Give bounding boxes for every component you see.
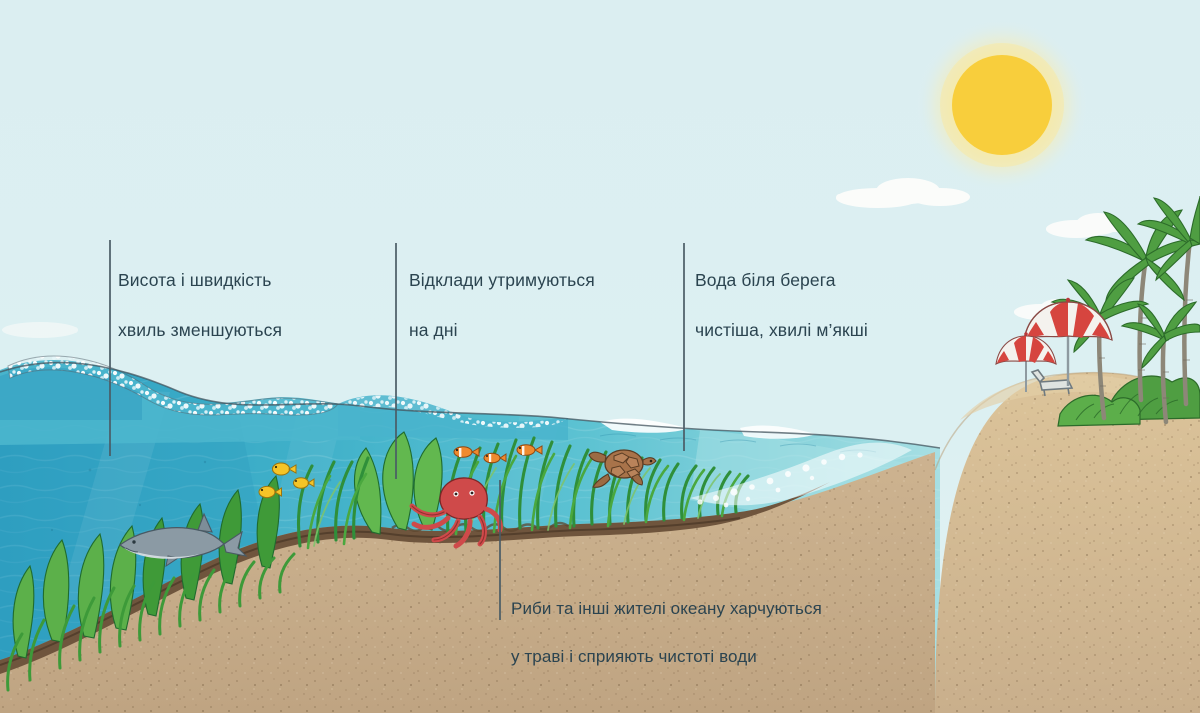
label-sediment: Відклади утримуються на дні xyxy=(409,243,595,367)
label-fish-feeding-line1: Риби та інші жителі океану харчуються xyxy=(511,597,822,621)
label-wave-height-line1: Висота і швидкість xyxy=(118,268,282,293)
coastal-infographic-scene: Висота і швидкість хвиль зменшуються Від… xyxy=(0,0,1200,713)
label-clean-water-line1: Вода біля берега xyxy=(695,268,868,293)
label-wave-height-line2: хвиль зменшуються xyxy=(118,318,282,343)
label-sediment-line1: Відклади утримуються xyxy=(409,268,595,293)
label-wave-height: Висота і швидкість хвиль зменшуються xyxy=(118,243,282,367)
label-sediment-line2: на дні xyxy=(409,318,595,343)
label-clean-water-line2: чистіша, хвилі м’якші xyxy=(695,318,868,343)
label-clean-water: Вода біля берега чистіша, хвилі м’якші xyxy=(695,243,868,367)
sun xyxy=(916,19,1088,191)
label-fish-feeding: Риби та інші жителі океану харчуються у … xyxy=(511,573,822,694)
label-fish-feeding-line2: у траві і сприяють чистоті води xyxy=(511,645,822,669)
